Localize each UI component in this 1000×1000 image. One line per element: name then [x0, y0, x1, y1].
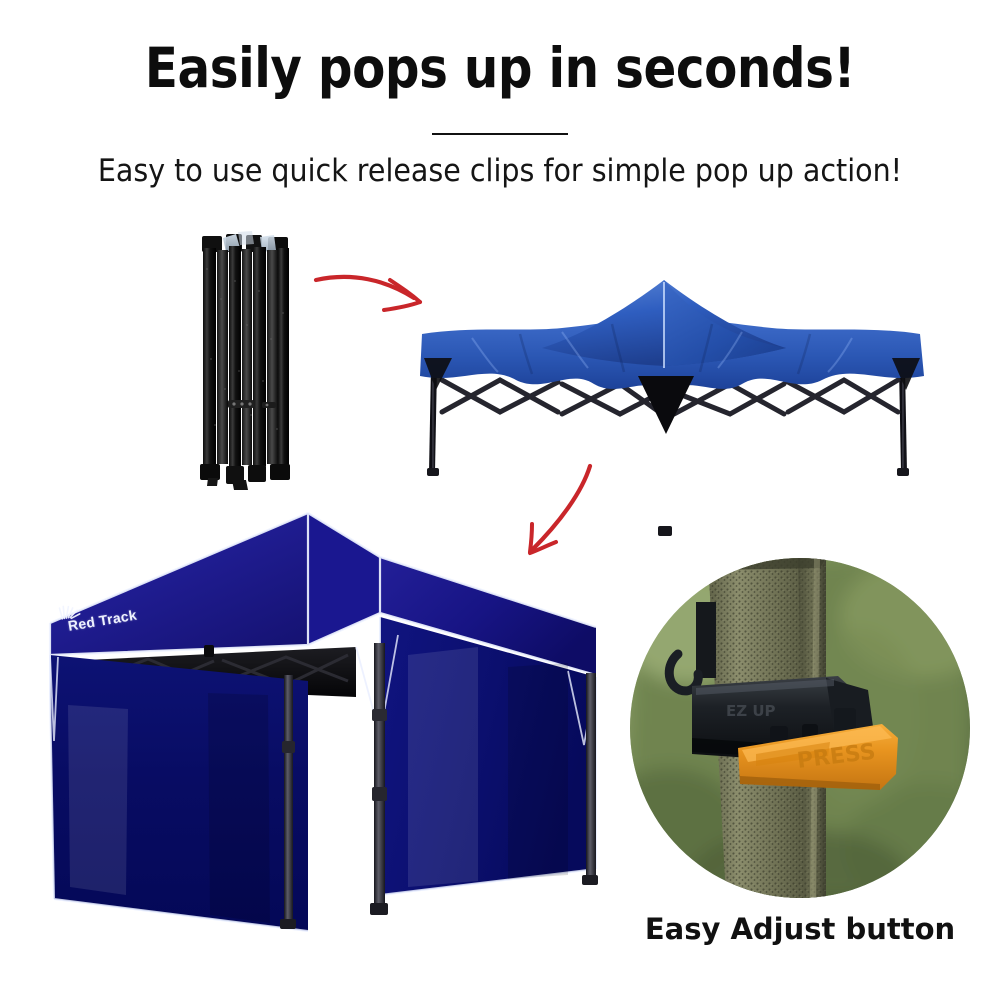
tent-roof-left [50, 513, 308, 655]
housing-embossed-label: EZ UP [726, 702, 776, 720]
folded-feet [200, 464, 290, 490]
title-divider [432, 133, 568, 135]
inset-photo-circle: EZ UP PRESS [630, 558, 970, 898]
page-subtitle: Easy to use quick release clips for simp… [40, 153, 960, 189]
folded-tent-image [190, 228, 305, 490]
canopy-foot [658, 526, 672, 536]
canopy-foot [427, 468, 439, 476]
inset-caption: Easy Adjust button [600, 912, 1000, 946]
canopy-foot [897, 468, 909, 476]
easy-adjust-inset: EZ UP PRESS [630, 558, 970, 898]
assembled-tent-image [8, 495, 628, 955]
page-title: Easily pops up in seconds! [60, 36, 940, 100]
infographic-page: Easily pops up in seconds! Easy to use q… [0, 0, 1000, 1000]
folded-poles [203, 246, 289, 466]
tent-roof-front [308, 513, 380, 645]
